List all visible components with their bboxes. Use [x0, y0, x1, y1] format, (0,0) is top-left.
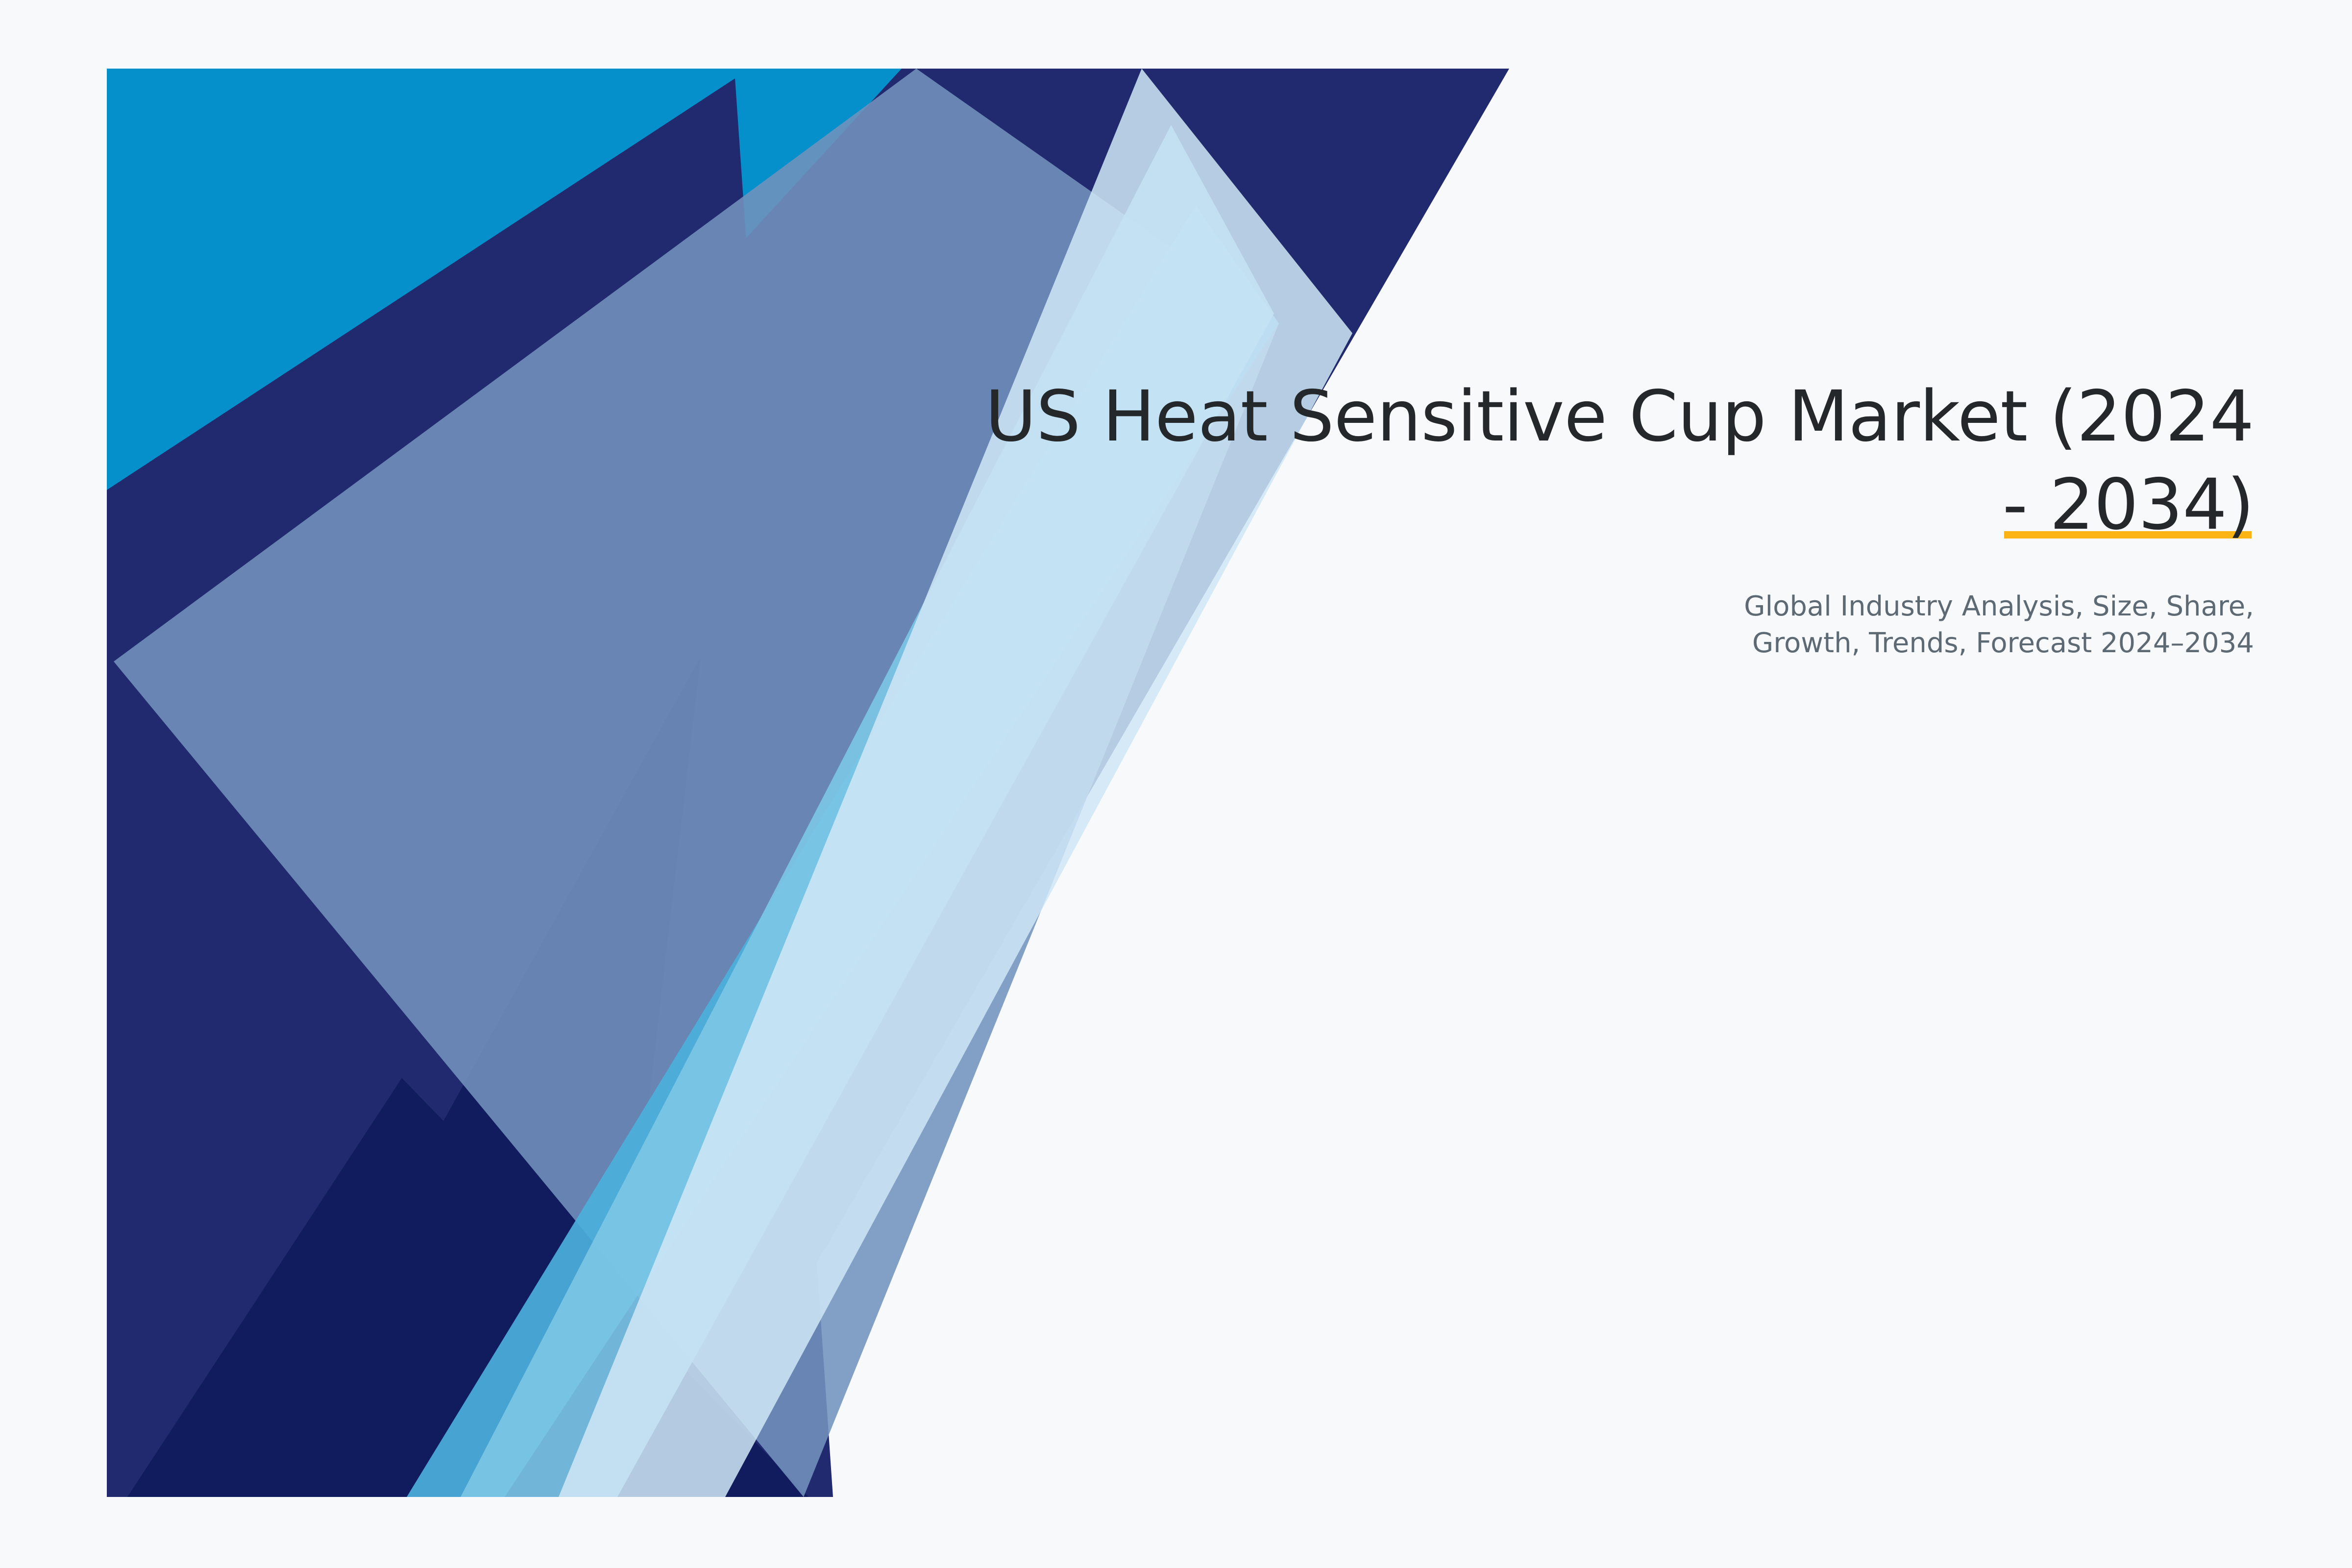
- cover-page: US Heat Sensitive Cup Market (2024 - 203…: [0, 0, 2352, 1568]
- page-subtitle: Global Industry Analysis, Size, Share, G…: [833, 549, 2254, 661]
- abstract-geometric-cover-graphic: [0, 0, 2352, 1568]
- cover-text-block: US Heat Sensitive Cup Market (2024 - 203…: [833, 372, 2254, 661]
- page-title: US Heat Sensitive Cup Market (2024 - 203…: [833, 372, 2254, 549]
